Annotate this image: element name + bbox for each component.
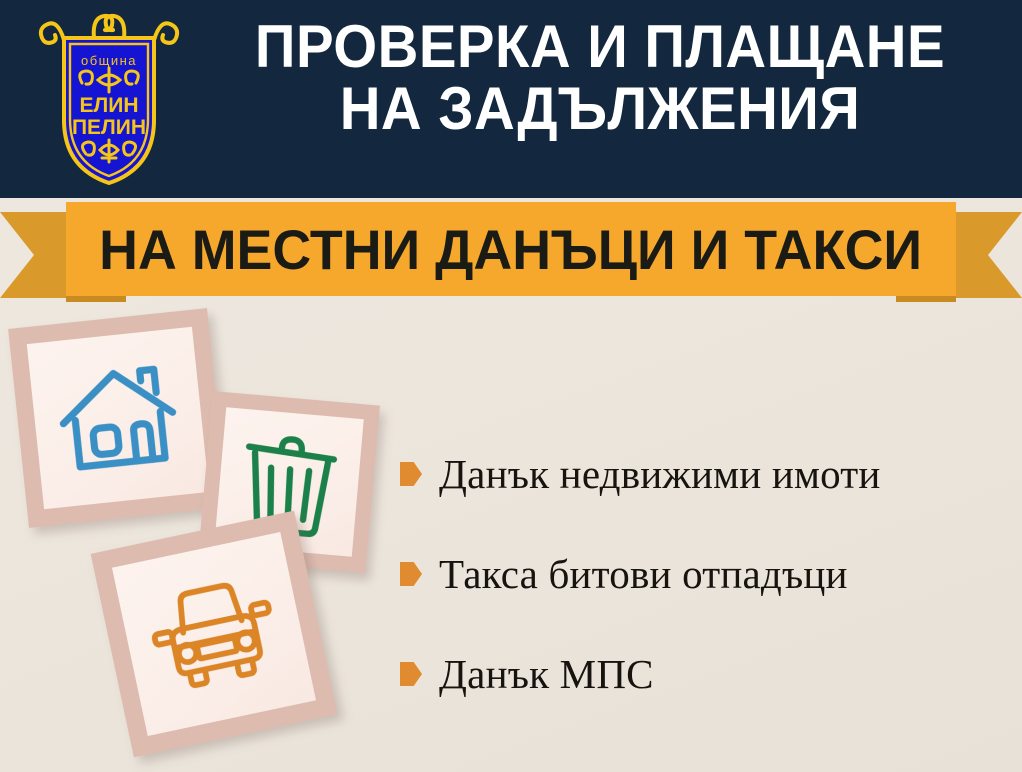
house-icon: [52, 357, 185, 479]
stamp-car-paper: [112, 532, 316, 736]
list-item-label: Данък недвижими имоти: [439, 450, 881, 498]
poster-canvas: община ЕЛИН ПЕЛИН: [0, 0, 1022, 772]
arrow-bullet-icon: [400, 662, 422, 686]
tax-type-list: Данък недвижими имоти Такса битови отпад…: [400, 424, 1014, 724]
list-item[interactable]: Данък МПС: [400, 624, 1014, 724]
list-item[interactable]: Данък недвижими имоти: [400, 424, 1014, 524]
arrow-bullet-icon: [400, 562, 422, 586]
header-title-line-1: ПРОВЕРКА И ПЛАЩАНЕ: [215, 16, 986, 78]
emblem-name-line2: ПЕЛИН: [72, 116, 146, 139]
ribbon-subtitle-text: НА МЕСТНИ ДАНЪЦИ И ТАКСИ: [100, 217, 923, 282]
arrow-bullet-icon: [400, 462, 422, 486]
stamp-house-paper: [27, 327, 209, 509]
stamp-house: [8, 308, 228, 528]
emblem-name-line1: ЕЛИН: [79, 94, 138, 117]
ribbon-main-panel: НА МЕСТНИ ДАНЪЦИ И ТАКСИ: [66, 202, 956, 296]
elin-pelin-coat-of-arms-icon: община ЕЛИН ПЕЛИН: [36, 8, 182, 190]
page-title: ПРОВЕРКА И ПЛАЩАНЕ НА ЗАДЪЛЖЕНИЯ: [190, 16, 1010, 140]
header-banner: община ЕЛИН ПЕЛИН: [0, 0, 1022, 198]
header-title-line-2: НА ЗАДЪЛЖЕНИЯ: [215, 78, 986, 140]
emblem-obshtina-text: община: [81, 53, 137, 68]
stamp-car: [91, 511, 338, 758]
list-item[interactable]: Такса битови отпадъци: [400, 524, 1014, 624]
list-item-label: Такса битови отпадъци: [439, 550, 848, 598]
list-item-label: Данък МПС: [439, 650, 654, 698]
car-front-icon: [141, 568, 287, 700]
subtitle-ribbon: НА МЕСТНИ ДАНЪЦИ И ТАКСИ: [0, 196, 1022, 316]
